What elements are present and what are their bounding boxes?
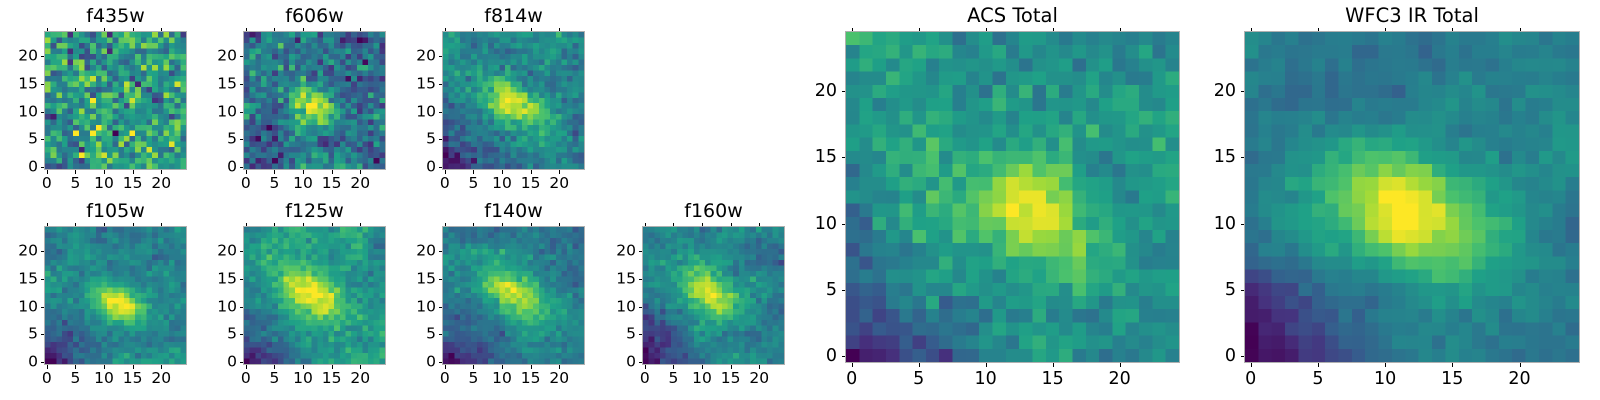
y-tick-label-f140w-0: 0 xyxy=(426,354,436,371)
y-tick-f814w-0 xyxy=(439,167,443,168)
x-tick-label-f105w-0: 0 xyxy=(42,370,52,387)
y-tick-f814w-5 xyxy=(439,139,443,140)
x-tick-label-f160w-0: 0 xyxy=(640,370,650,387)
y-tick-f125w-15 xyxy=(240,279,244,280)
x-tick-top-wfc3-ir-total-5 xyxy=(1318,28,1319,32)
x-tick-top-f814w-15 xyxy=(531,28,532,32)
heatmap-axes-f105w xyxy=(44,226,187,365)
y-tick-label-f105w-5: 5 xyxy=(28,326,38,343)
x-tick-top-f105w-15 xyxy=(133,223,134,227)
x-tick-label-f125w-5: 5 xyxy=(270,370,280,387)
y-tick-f160w-0 xyxy=(639,362,643,363)
x-tick-top-f814w-5 xyxy=(473,28,474,32)
x-tick-top-f140w-5 xyxy=(473,223,474,227)
y-tick-label-f606w-15: 15 xyxy=(217,75,237,92)
x-tick-label-f435w-20: 20 xyxy=(151,175,171,192)
heatmap-axes-f814w xyxy=(442,31,585,170)
x-tick-top-f160w-15 xyxy=(731,223,732,227)
x-tick-f140w-20 xyxy=(559,365,560,369)
y-tick-f814w-10 xyxy=(439,112,443,113)
y-tick-f140w-0 xyxy=(439,362,443,363)
heatmap-axes-f125w xyxy=(243,226,386,365)
x-tick-label-f435w-5: 5 xyxy=(71,175,81,192)
y-tick-label-f435w-5: 5 xyxy=(28,131,38,148)
x-tick-f435w-0 xyxy=(47,170,48,174)
x-tick-top-f105w-20 xyxy=(161,223,162,227)
heatmap-axes-wfc3-ir-total xyxy=(1244,31,1580,363)
x-tick-wfc3-ir-total-5 xyxy=(1318,363,1319,367)
x-tick-f160w-5 xyxy=(673,365,674,369)
y-tick-f435w-20 xyxy=(41,56,45,57)
y-tick-f105w-5 xyxy=(41,334,45,335)
y-tick-label-f435w-20: 20 xyxy=(18,48,38,65)
heatmap-axes-f160w xyxy=(642,226,785,365)
y-tick-label-acs-total-5: 5 xyxy=(826,280,837,300)
x-tick-acs-total-0 xyxy=(852,363,853,367)
y-tick-f140w-5 xyxy=(439,334,443,335)
x-tick-label-f105w-5: 5 xyxy=(71,370,81,387)
x-tick-top-f105w-0 xyxy=(47,223,48,227)
x-tick-label-f160w-10: 10 xyxy=(692,370,712,387)
x-tick-label-f105w-10: 10 xyxy=(94,370,114,387)
x-tick-top-f140w-15 xyxy=(531,223,532,227)
y-tick-acs-total-20 xyxy=(842,91,846,92)
x-tick-top-wfc3-ir-total-10 xyxy=(1385,28,1386,32)
x-tick-f125w-5 xyxy=(274,365,275,369)
y-tick-f125w-20 xyxy=(240,251,244,252)
y-tick-label-f435w-0: 0 xyxy=(28,159,38,176)
x-tick-top-f160w-5 xyxy=(673,223,674,227)
x-tick-label-f105w-15: 15 xyxy=(123,370,143,387)
x-tick-f140w-15 xyxy=(531,365,532,369)
x-tick-label-f435w-15: 15 xyxy=(123,175,143,192)
x-tick-label-acs-total-0: 0 xyxy=(846,369,857,389)
panel-f140w: f140w0510152005101520 xyxy=(442,226,585,365)
x-tick-label-f814w-5: 5 xyxy=(469,175,479,192)
y-tick-f140w-15 xyxy=(439,279,443,280)
x-tick-label-f105w-20: 20 xyxy=(151,370,171,387)
y-tick-acs-total-5 xyxy=(842,290,846,291)
x-tick-label-acs-total-10: 10 xyxy=(975,369,997,389)
x-tick-top-f435w-20 xyxy=(161,28,162,32)
x-tick-f160w-10 xyxy=(702,365,703,369)
y-tick-label-wfc3-ir-total-10: 10 xyxy=(1214,214,1236,234)
y-tick-f160w-10 xyxy=(639,307,643,308)
y-tick-label-wfc3-ir-total-5: 5 xyxy=(1225,280,1236,300)
x-tick-label-f814w-0: 0 xyxy=(440,175,450,192)
x-tick-f435w-20 xyxy=(161,170,162,174)
y-tick-label-f435w-15: 15 xyxy=(18,75,38,92)
y-tick-f435w-5 xyxy=(41,139,45,140)
x-tick-f160w-15 xyxy=(731,365,732,369)
x-tick-top-wfc3-ir-total-0 xyxy=(1251,28,1252,32)
x-tick-top-f140w-10 xyxy=(502,223,503,227)
x-tick-f814w-0 xyxy=(445,170,446,174)
x-tick-top-f160w-20 xyxy=(759,223,760,227)
y-tick-label-acs-total-0: 0 xyxy=(826,346,837,366)
x-tick-top-f606w-15 xyxy=(332,28,333,32)
panel-wfc3-ir-total: WFC3 IR Total0510152005101520 xyxy=(1244,31,1580,363)
x-tick-acs-total-10 xyxy=(986,363,987,367)
y-tick-f105w-15 xyxy=(41,279,45,280)
x-tick-label-f814w-20: 20 xyxy=(549,175,569,192)
panel-title-f140w: f140w xyxy=(442,200,585,222)
x-tick-label-f814w-10: 10 xyxy=(492,175,512,192)
y-tick-label-f105w-20: 20 xyxy=(18,243,38,260)
x-tick-top-f105w-10 xyxy=(104,223,105,227)
x-tick-f140w-5 xyxy=(473,365,474,369)
x-tick-top-wfc3-ir-total-15 xyxy=(1452,28,1453,32)
panel-title-acs-total: ACS Total xyxy=(845,4,1180,27)
x-tick-label-f140w-5: 5 xyxy=(469,370,479,387)
x-tick-top-f606w-5 xyxy=(274,28,275,32)
x-tick-top-f125w-0 xyxy=(246,223,247,227)
x-tick-f435w-10 xyxy=(104,170,105,174)
y-tick-label-f125w-20: 20 xyxy=(217,243,237,260)
x-tick-acs-total-15 xyxy=(1053,363,1054,367)
y-tick-label-f814w-15: 15 xyxy=(416,75,436,92)
x-tick-label-f606w-15: 15 xyxy=(322,175,342,192)
y-tick-f160w-15 xyxy=(639,279,643,280)
x-tick-f125w-0 xyxy=(246,365,247,369)
x-tick-top-f606w-10 xyxy=(303,28,304,32)
panel-f105w: f105w0510152005101520 xyxy=(44,226,187,365)
heatmap-image-f125w xyxy=(244,227,385,364)
x-tick-f606w-15 xyxy=(332,170,333,174)
x-tick-f140w-0 xyxy=(445,365,446,369)
x-tick-f606w-10 xyxy=(303,170,304,174)
y-tick-wfc3-ir-total-10 xyxy=(1241,224,1245,225)
x-tick-label-f160w-15: 15 xyxy=(721,370,741,387)
x-tick-f125w-10 xyxy=(303,365,304,369)
y-tick-label-wfc3-ir-total-20: 20 xyxy=(1214,81,1236,101)
x-tick-top-acs-total-10 xyxy=(986,28,987,32)
x-tick-f105w-0 xyxy=(47,365,48,369)
x-tick-label-f125w-20: 20 xyxy=(350,370,370,387)
x-tick-label-f140w-0: 0 xyxy=(440,370,450,387)
y-tick-label-f606w-0: 0 xyxy=(227,159,237,176)
x-tick-top-f606w-20 xyxy=(360,28,361,32)
x-tick-top-f140w-20 xyxy=(559,223,560,227)
y-tick-label-f814w-5: 5 xyxy=(426,131,436,148)
x-tick-label-wfc3-ir-total-15: 15 xyxy=(1441,369,1463,389)
y-tick-wfc3-ir-total-5 xyxy=(1241,290,1245,291)
panel-title-f606w: f606w xyxy=(243,5,386,27)
x-tick-top-f125w-10 xyxy=(303,223,304,227)
y-tick-label-acs-total-15: 15 xyxy=(815,147,837,167)
y-tick-f435w-15 xyxy=(41,84,45,85)
y-tick-label-f140w-20: 20 xyxy=(416,243,436,260)
x-tick-label-f606w-20: 20 xyxy=(350,175,370,192)
y-tick-f125w-0 xyxy=(240,362,244,363)
y-tick-label-f160w-15: 15 xyxy=(616,270,636,287)
y-tick-f606w-0 xyxy=(240,167,244,168)
x-tick-top-f140w-0 xyxy=(445,223,446,227)
y-tick-acs-total-0 xyxy=(842,356,846,357)
x-tick-acs-total-5 xyxy=(919,363,920,367)
heatmap-axes-f606w xyxy=(243,31,386,170)
x-tick-f105w-10 xyxy=(104,365,105,369)
y-tick-acs-total-15 xyxy=(842,157,846,158)
x-tick-f125w-15 xyxy=(332,365,333,369)
x-tick-wfc3-ir-total-0 xyxy=(1251,363,1252,367)
y-tick-label-f606w-10: 10 xyxy=(217,103,237,120)
panel-title-f814w: f814w xyxy=(442,5,585,27)
x-tick-label-f606w-0: 0 xyxy=(241,175,251,192)
panel-acs-total: ACS Total0510152005101520 xyxy=(845,31,1180,363)
y-tick-f606w-10 xyxy=(240,112,244,113)
x-tick-label-f606w-10: 10 xyxy=(293,175,313,192)
heatmap-image-f814w xyxy=(443,32,584,169)
x-tick-top-f435w-10 xyxy=(104,28,105,32)
x-tick-f606w-20 xyxy=(360,170,361,174)
panel-f814w: f814w0510152005101520 xyxy=(442,31,585,170)
x-tick-top-f435w-15 xyxy=(133,28,134,32)
x-tick-label-wfc3-ir-total-0: 0 xyxy=(1245,369,1256,389)
y-tick-label-f125w-15: 15 xyxy=(217,270,237,287)
x-tick-f814w-5 xyxy=(473,170,474,174)
y-tick-f160w-5 xyxy=(639,334,643,335)
x-tick-f105w-20 xyxy=(161,365,162,369)
x-tick-f140w-10 xyxy=(502,365,503,369)
x-tick-label-f606w-5: 5 xyxy=(270,175,280,192)
x-tick-label-f125w-10: 10 xyxy=(293,370,313,387)
x-tick-f814w-20 xyxy=(559,170,560,174)
panel-f435w: f435w0510152005101520 xyxy=(44,31,187,170)
x-tick-top-f814w-0 xyxy=(445,28,446,32)
y-tick-f105w-20 xyxy=(41,251,45,252)
x-tick-label-f160w-20: 20 xyxy=(749,370,769,387)
y-tick-f105w-10 xyxy=(41,307,45,308)
x-tick-label-f435w-10: 10 xyxy=(94,175,114,192)
y-tick-label-acs-total-20: 20 xyxy=(815,81,837,101)
x-tick-top-f160w-10 xyxy=(702,223,703,227)
y-tick-label-f160w-20: 20 xyxy=(616,243,636,260)
y-tick-label-f125w-0: 0 xyxy=(227,354,237,371)
heatmap-image-f140w xyxy=(443,227,584,364)
heatmap-image-acs-total xyxy=(846,32,1179,362)
heatmap-axes-f435w xyxy=(44,31,187,170)
panel-f160w: f160w0510152005101520 xyxy=(642,226,785,365)
x-tick-label-f814w-15: 15 xyxy=(521,175,541,192)
panel-title-f125w: f125w xyxy=(243,200,386,222)
heatmap-image-f606w xyxy=(244,32,385,169)
x-tick-top-f125w-15 xyxy=(332,223,333,227)
y-tick-f435w-10 xyxy=(41,112,45,113)
panel-title-f105w: f105w xyxy=(44,200,187,222)
heatmap-image-f435w xyxy=(45,32,186,169)
y-tick-label-f160w-5: 5 xyxy=(626,326,636,343)
y-tick-f606w-20 xyxy=(240,56,244,57)
y-tick-f140w-10 xyxy=(439,307,443,308)
x-tick-f105w-5 xyxy=(75,365,76,369)
x-tick-f160w-20 xyxy=(759,365,760,369)
x-tick-top-f814w-20 xyxy=(559,28,560,32)
heatmap-image-f105w xyxy=(45,227,186,364)
x-tick-f435w-15 xyxy=(133,170,134,174)
y-tick-wfc3-ir-total-15 xyxy=(1241,157,1245,158)
y-tick-label-f606w-5: 5 xyxy=(227,131,237,148)
y-tick-label-f140w-5: 5 xyxy=(426,326,436,343)
y-tick-label-f105w-10: 10 xyxy=(18,298,38,315)
x-tick-label-f125w-15: 15 xyxy=(322,370,342,387)
x-tick-label-f125w-0: 0 xyxy=(241,370,251,387)
y-tick-f435w-0 xyxy=(41,167,45,168)
panel-title-f435w: f435w xyxy=(44,5,187,27)
x-tick-f435w-5 xyxy=(75,170,76,174)
heatmap-image-f160w xyxy=(643,227,784,364)
y-tick-f140w-20 xyxy=(439,251,443,252)
x-tick-label-acs-total-5: 5 xyxy=(913,369,924,389)
x-tick-top-f435w-5 xyxy=(75,28,76,32)
y-tick-f125w-5 xyxy=(240,334,244,335)
y-tick-label-f435w-10: 10 xyxy=(18,103,38,120)
x-tick-top-acs-total-5 xyxy=(919,28,920,32)
y-tick-label-f105w-15: 15 xyxy=(18,270,38,287)
x-tick-label-f140w-15: 15 xyxy=(521,370,541,387)
x-tick-top-f160w-0 xyxy=(645,223,646,227)
heatmap-axes-acs-total xyxy=(845,31,1180,363)
heatmap-axes-f140w xyxy=(442,226,585,365)
x-tick-top-f105w-5 xyxy=(75,223,76,227)
x-tick-wfc3-ir-total-20 xyxy=(1520,363,1521,367)
x-tick-f105w-15 xyxy=(133,365,134,369)
y-tick-f814w-15 xyxy=(439,84,443,85)
y-tick-label-f160w-0: 0 xyxy=(626,354,636,371)
y-tick-f160w-20 xyxy=(639,251,643,252)
y-tick-label-f140w-15: 15 xyxy=(416,270,436,287)
x-tick-label-acs-total-20: 20 xyxy=(1109,369,1131,389)
y-tick-label-f105w-0: 0 xyxy=(28,354,38,371)
x-tick-label-wfc3-ir-total-10: 10 xyxy=(1374,369,1396,389)
heatmap-image-wfc3-ir-total xyxy=(1245,32,1579,362)
x-tick-top-f125w-5 xyxy=(274,223,275,227)
y-tick-label-f125w-5: 5 xyxy=(227,326,237,343)
x-tick-top-f814w-10 xyxy=(502,28,503,32)
y-tick-label-f814w-20: 20 xyxy=(416,48,436,65)
x-tick-f160w-0 xyxy=(645,365,646,369)
x-tick-wfc3-ir-total-15 xyxy=(1452,363,1453,367)
x-tick-top-acs-total-0 xyxy=(852,28,853,32)
x-tick-label-f160w-5: 5 xyxy=(669,370,679,387)
y-tick-label-wfc3-ir-total-0: 0 xyxy=(1225,346,1236,366)
y-tick-acs-total-10 xyxy=(842,224,846,225)
panel-title-wfc3-ir-total: WFC3 IR Total xyxy=(1244,4,1580,27)
y-tick-label-acs-total-10: 10 xyxy=(815,214,837,234)
y-tick-f606w-15 xyxy=(240,84,244,85)
y-tick-wfc3-ir-total-20 xyxy=(1241,91,1245,92)
x-tick-f606w-5 xyxy=(274,170,275,174)
x-tick-top-wfc3-ir-total-20 xyxy=(1520,28,1521,32)
y-tick-wfc3-ir-total-0 xyxy=(1241,356,1245,357)
x-tick-top-acs-total-15 xyxy=(1053,28,1054,32)
x-tick-label-wfc3-ir-total-5: 5 xyxy=(1312,369,1323,389)
y-tick-label-f125w-10: 10 xyxy=(217,298,237,315)
y-tick-label-f814w-10: 10 xyxy=(416,103,436,120)
figure-canvas: f435w0510152005101520f606w05101520051015… xyxy=(0,0,1600,400)
x-tick-label-wfc3-ir-total-20: 20 xyxy=(1508,369,1530,389)
x-tick-label-acs-total-15: 15 xyxy=(1042,369,1064,389)
y-tick-label-wfc3-ir-total-15: 15 xyxy=(1214,147,1236,167)
y-tick-f105w-0 xyxy=(41,362,45,363)
panel-title-f160w: f160w xyxy=(642,200,785,222)
x-tick-f814w-15 xyxy=(531,170,532,174)
y-tick-label-f814w-0: 0 xyxy=(426,159,436,176)
x-tick-top-acs-total-20 xyxy=(1120,28,1121,32)
y-tick-label-f160w-10: 10 xyxy=(616,298,636,315)
x-tick-label-f435w-0: 0 xyxy=(42,175,52,192)
x-tick-f125w-20 xyxy=(360,365,361,369)
x-tick-f814w-10 xyxy=(502,170,503,174)
x-tick-acs-total-20 xyxy=(1120,363,1121,367)
x-tick-top-f435w-0 xyxy=(47,28,48,32)
y-tick-label-f606w-20: 20 xyxy=(217,48,237,65)
panel-f125w: f125w0510152005101520 xyxy=(243,226,386,365)
x-tick-top-f125w-20 xyxy=(360,223,361,227)
x-tick-top-f606w-0 xyxy=(246,28,247,32)
y-tick-f606w-5 xyxy=(240,139,244,140)
x-tick-label-f140w-20: 20 xyxy=(549,370,569,387)
panel-f606w: f606w0510152005101520 xyxy=(243,31,386,170)
y-tick-f125w-10 xyxy=(240,307,244,308)
y-tick-f814w-20 xyxy=(439,56,443,57)
x-tick-wfc3-ir-total-10 xyxy=(1385,363,1386,367)
x-tick-label-f140w-10: 10 xyxy=(492,370,512,387)
x-tick-f606w-0 xyxy=(246,170,247,174)
y-tick-label-f140w-10: 10 xyxy=(416,298,436,315)
